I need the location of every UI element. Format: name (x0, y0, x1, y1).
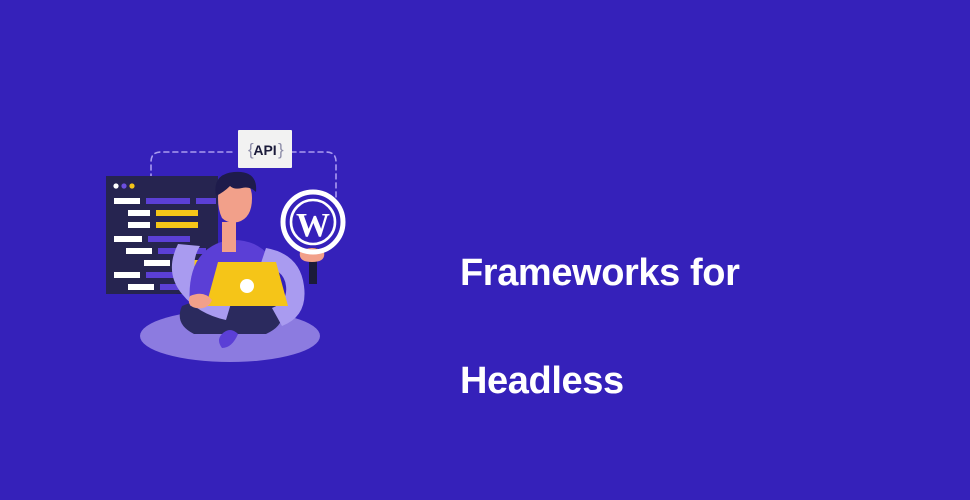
page-title-line-1: Frameworks for (460, 246, 880, 300)
code-line-bar (156, 210, 198, 216)
code-line-bar (126, 248, 152, 254)
code-line-bar (128, 284, 154, 290)
wordpress-logo-letter: W (296, 207, 330, 244)
wordpress-logo: W (283, 192, 343, 252)
code-line-bar (156, 222, 198, 228)
window-dot-yellow-icon (129, 183, 134, 188)
code-line-bar (128, 210, 150, 216)
laptop-logo-dot (240, 279, 254, 293)
page-title-line-2: Headless (460, 354, 880, 408)
window-dot-purple-icon (121, 183, 126, 188)
api-badge: { API } (238, 130, 292, 168)
code-line-bar (146, 198, 190, 204)
banner: { API } (0, 0, 970, 500)
code-line-bar (128, 222, 150, 228)
headless-wordpress-illustration: { API } (90, 110, 380, 370)
api-badge-label: API (253, 142, 276, 158)
code-line-bar (148, 236, 190, 242)
character-neck (222, 222, 236, 252)
code-line-bar (196, 198, 216, 204)
window-dot-white-icon (113, 183, 118, 188)
code-line-bar (144, 260, 170, 266)
page-title: Frameworks for Headless (460, 192, 880, 462)
code-line-bar (114, 236, 142, 242)
code-line-bar (114, 198, 140, 204)
api-badge-close-brace: } (278, 140, 284, 159)
code-line-bar (114, 272, 140, 278)
